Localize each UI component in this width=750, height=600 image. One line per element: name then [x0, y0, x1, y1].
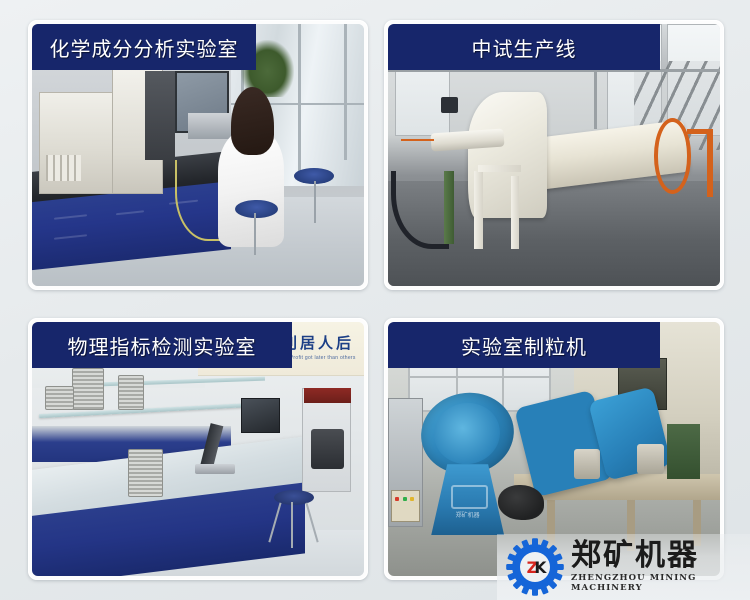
test-sieve-stack — [128, 449, 163, 497]
analyzer-instrument — [39, 92, 117, 194]
company-logo: Z K 郑矿机器 ZHENGZHOU MINING MACHINERY — [497, 534, 750, 600]
instrument-dark-module — [145, 71, 175, 160]
caption-text: 中试生产线 — [472, 33, 577, 62]
caption-bar-laboratory-granulator: 实验室制粒机 — [388, 322, 660, 368]
drawer-handle — [54, 214, 87, 219]
panel-inner: 中试生产线 — [388, 24, 720, 286]
machine-logo-mark — [451, 485, 488, 509]
indicator-led — [403, 497, 407, 501]
support-post — [511, 176, 519, 249]
support-post — [474, 171, 482, 250]
caption-bar-chemical-analysis-lab: 化学成分分析实验室 — [32, 24, 256, 70]
gear-icon: Z K — [505, 537, 565, 597]
caption-text: 实验室制粒机 — [461, 331, 587, 360]
company-name-en: ZHENGZHOU MINING MACHINERY — [571, 573, 750, 593]
granulator-motor — [574, 449, 601, 479]
indicator-led — [410, 497, 414, 501]
window-mullion — [298, 24, 301, 176]
stool-leg — [291, 502, 293, 548]
support-rail — [478, 165, 521, 172]
company-name-cn: 郑矿机器 — [571, 541, 750, 572]
black-bag — [498, 485, 544, 521]
window-mullion — [410, 376, 549, 378]
handrail — [401, 139, 434, 141]
window-mullion — [344, 24, 347, 160]
computer-monitor — [241, 398, 280, 433]
instrument-vents — [46, 155, 81, 181]
handrail — [707, 129, 714, 197]
caption-text: 物理指标检测实验室 — [68, 331, 257, 360]
testing-machine-head — [304, 388, 350, 403]
logo-letter-k: K — [534, 559, 547, 577]
control-box — [441, 97, 458, 113]
granulator-motor — [637, 444, 664, 474]
panel-chemical-analysis-lab[interactable]: 化学成分分析实验室 — [28, 20, 368, 290]
cabinet-keypad — [391, 490, 420, 522]
microscope-base — [195, 464, 235, 474]
drawer-handle — [54, 234, 87, 239]
stool-leg — [254, 213, 256, 255]
handrail — [687, 129, 714, 134]
test-sieve-stack — [118, 375, 143, 410]
green-machine — [667, 424, 700, 480]
panel-physical-index-testing-lab[interactable]: · 利居人后 rking Profit got later than other… — [28, 318, 368, 580]
testing-machine-chamber — [311, 429, 344, 470]
panel-inner: 化学成分分析实验室 — [32, 24, 364, 286]
caption-bar-pilot-production-line: 中试生产线 — [388, 24, 660, 70]
slide-canvas: 化学成分分析实验室 — [0, 0, 750, 600]
drawer-handle — [116, 210, 145, 215]
caption-text: 化学成分分析实验室 — [50, 33, 239, 62]
panel-pilot-production-line[interactable]: 中试生产线 — [384, 20, 724, 290]
desk-equipment — [188, 113, 234, 139]
stool-leg — [314, 181, 316, 223]
caption-bar-physical-index-testing-lab: 物理指标检测实验室 — [32, 322, 292, 368]
indicator-led — [395, 497, 399, 501]
test-sieve-stack — [45, 386, 74, 411]
logo-text-block: 郑矿机器 ZHENGZHOU MINING MACHINERY — [571, 541, 750, 594]
machine-brand-text: 郑矿机器 — [441, 510, 494, 519]
panel-inner: · 利居人后 rking Profit got later than other… — [32, 322, 364, 576]
test-sieve-stack — [72, 368, 104, 411]
